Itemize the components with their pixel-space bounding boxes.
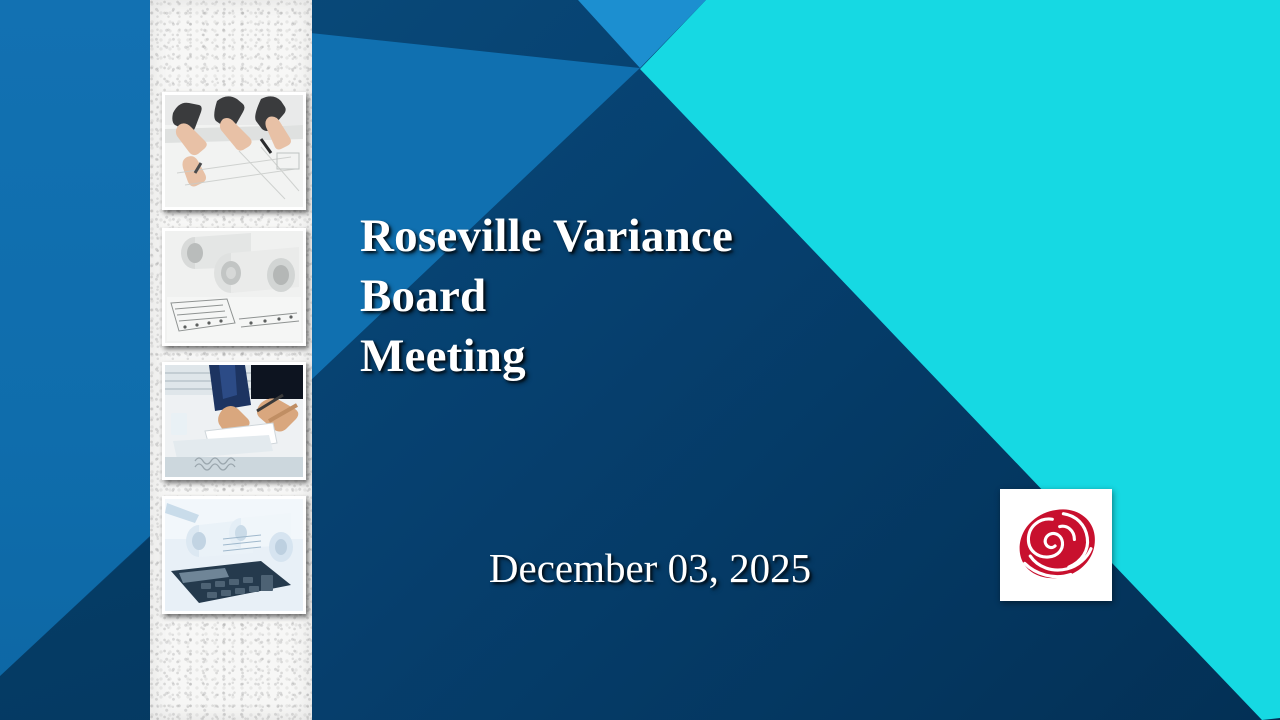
rose-icon — [1010, 499, 1102, 591]
meeting-date: December 03, 2025 — [360, 544, 940, 592]
title-line-1: Roseville Variance — [360, 206, 920, 266]
photo-business-meeting-documents — [162, 362, 306, 480]
title-line-2: Board — [360, 266, 920, 326]
photo-blueprints-calculator — [162, 496, 306, 614]
roseville-logo — [1000, 489, 1112, 601]
photo-strip-panel — [150, 0, 312, 720]
title-line-3: Meeting — [360, 326, 920, 386]
page-title: Roseville Variance Board Meeting — [360, 206, 920, 386]
presentation-slide: Roseville Variance Board Meeting Decembe… — [0, 0, 1280, 720]
photo-hands-on-blueprints — [162, 92, 306, 210]
photo-rolled-blueprints — [162, 228, 306, 346]
